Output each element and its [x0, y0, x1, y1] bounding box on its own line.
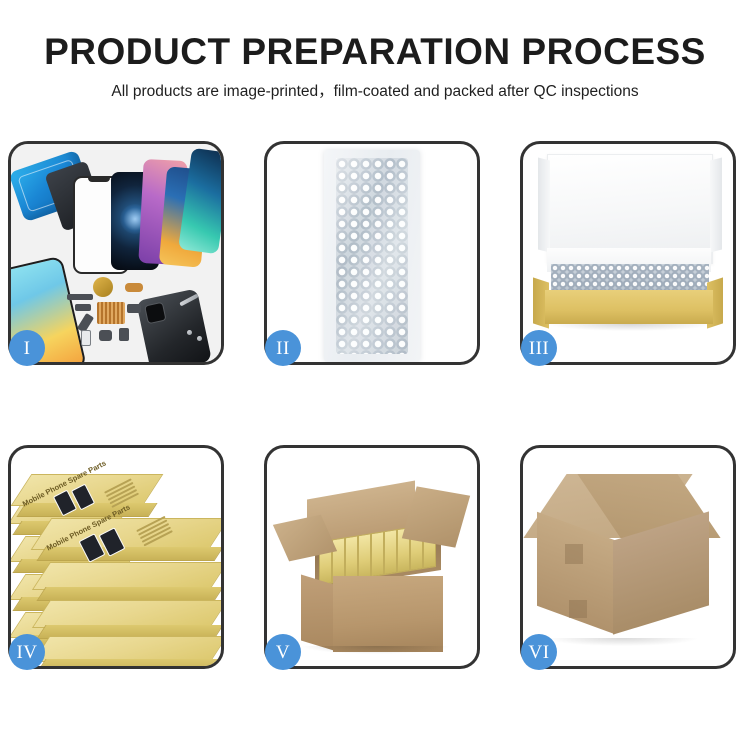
phones-and-parts-illustration: [11, 144, 221, 362]
part-sim-tray-icon: [81, 330, 91, 346]
step-badge-1: I: [9, 330, 45, 366]
steps-row-bottom: Mobile Phone Spare Parts Mobile Phone Sp…: [8, 445, 742, 669]
step-numeral-4: IV: [16, 643, 37, 662]
step-image-sealed-carton: [523, 448, 733, 666]
page-title: PRODUCT PREPARATION PROCESS: [0, 0, 750, 70]
page-subtitle: All products are image-printed，film-coat…: [0, 70, 750, 100]
part-speaker-coil-icon: [93, 277, 113, 297]
carton-front-side-icon: [333, 576, 443, 652]
retail-box-stack-illustration: Mobile Phone Spare Parts Mobile Phone Sp…: [11, 448, 221, 666]
sealed-carton-tape-upper: [565, 544, 583, 564]
steps-row-top: I II: [8, 141, 742, 365]
part-vibrator-icon: [99, 330, 112, 341]
part-flex-cable-icon: [125, 283, 143, 292]
phone-rear-housing-icon: [136, 288, 212, 362]
part-camera-module-icon: [127, 304, 141, 313]
step-panel-carton-loading: V: [264, 445, 480, 669]
step-panel-products-and-spare-parts: I: [8, 141, 224, 365]
carton-shadow: [303, 646, 449, 654]
step-image-stacked-retail-boxes: Mobile Phone Spare Parts Mobile Phone Sp…: [11, 448, 221, 666]
part-screw-a-icon: [187, 330, 192, 335]
part-button-icon: [119, 328, 129, 341]
retail-box-front-4: [41, 636, 217, 660]
part-screw-b-icon: [197, 336, 202, 341]
step-badge-6: VI: [521, 634, 557, 670]
step-panel-sealed-carton: VI: [520, 445, 736, 669]
carton-left-side-icon: [301, 574, 337, 651]
step-numeral-1: I: [24, 339, 31, 358]
step-numeral-3: III: [529, 339, 549, 358]
inner-box-front-panel-icon: [545, 290, 713, 324]
step-image-bubble-wrap-packing: [267, 144, 477, 362]
step-panel-stacked-retail-boxes: Mobile Phone Spare Parts Mobile Phone Sp…: [8, 445, 224, 669]
step-numeral-6: VI: [528, 643, 549, 662]
step-numeral-2: II: [276, 339, 290, 358]
step-numeral-5: V: [276, 643, 290, 662]
step-badge-3: III: [521, 330, 557, 366]
bubble-wrap-pouch-illustration: [324, 150, 420, 362]
step-image-products-and-spare-parts: [11, 144, 221, 362]
part-battery-icon: [67, 294, 93, 300]
retail-box-front-3: [41, 600, 217, 626]
step-badge-4: IV: [9, 634, 45, 670]
bubble-wrap-texture: [336, 158, 408, 354]
product-preparation-infographic: PRODUCT PREPARATION PROCESS All products…: [0, 0, 750, 750]
sealed-carton-tape-lower: [569, 600, 587, 618]
inner-box-bubble-fill-icon: [551, 264, 709, 292]
header: PRODUCT PREPARATION PROCESS All products…: [0, 0, 750, 100]
step-image-carton-loading: [267, 448, 477, 666]
step-image-inner-box-packing: [523, 144, 733, 362]
inner-box-shadow: [549, 324, 711, 331]
steps-grid: I II: [8, 141, 742, 669]
retail-box-front-2: [41, 562, 217, 588]
sealed-carton-shadow: [547, 638, 697, 646]
step-panel-inner-box-packing: III: [520, 141, 736, 365]
step-badge-5: V: [265, 634, 301, 670]
step-badge-2: II: [265, 330, 301, 366]
part-logic-board-icon: [97, 302, 125, 324]
part-connector-a-icon: [75, 304, 91, 311]
step-panel-bubble-wrap-packing: II: [264, 141, 480, 365]
